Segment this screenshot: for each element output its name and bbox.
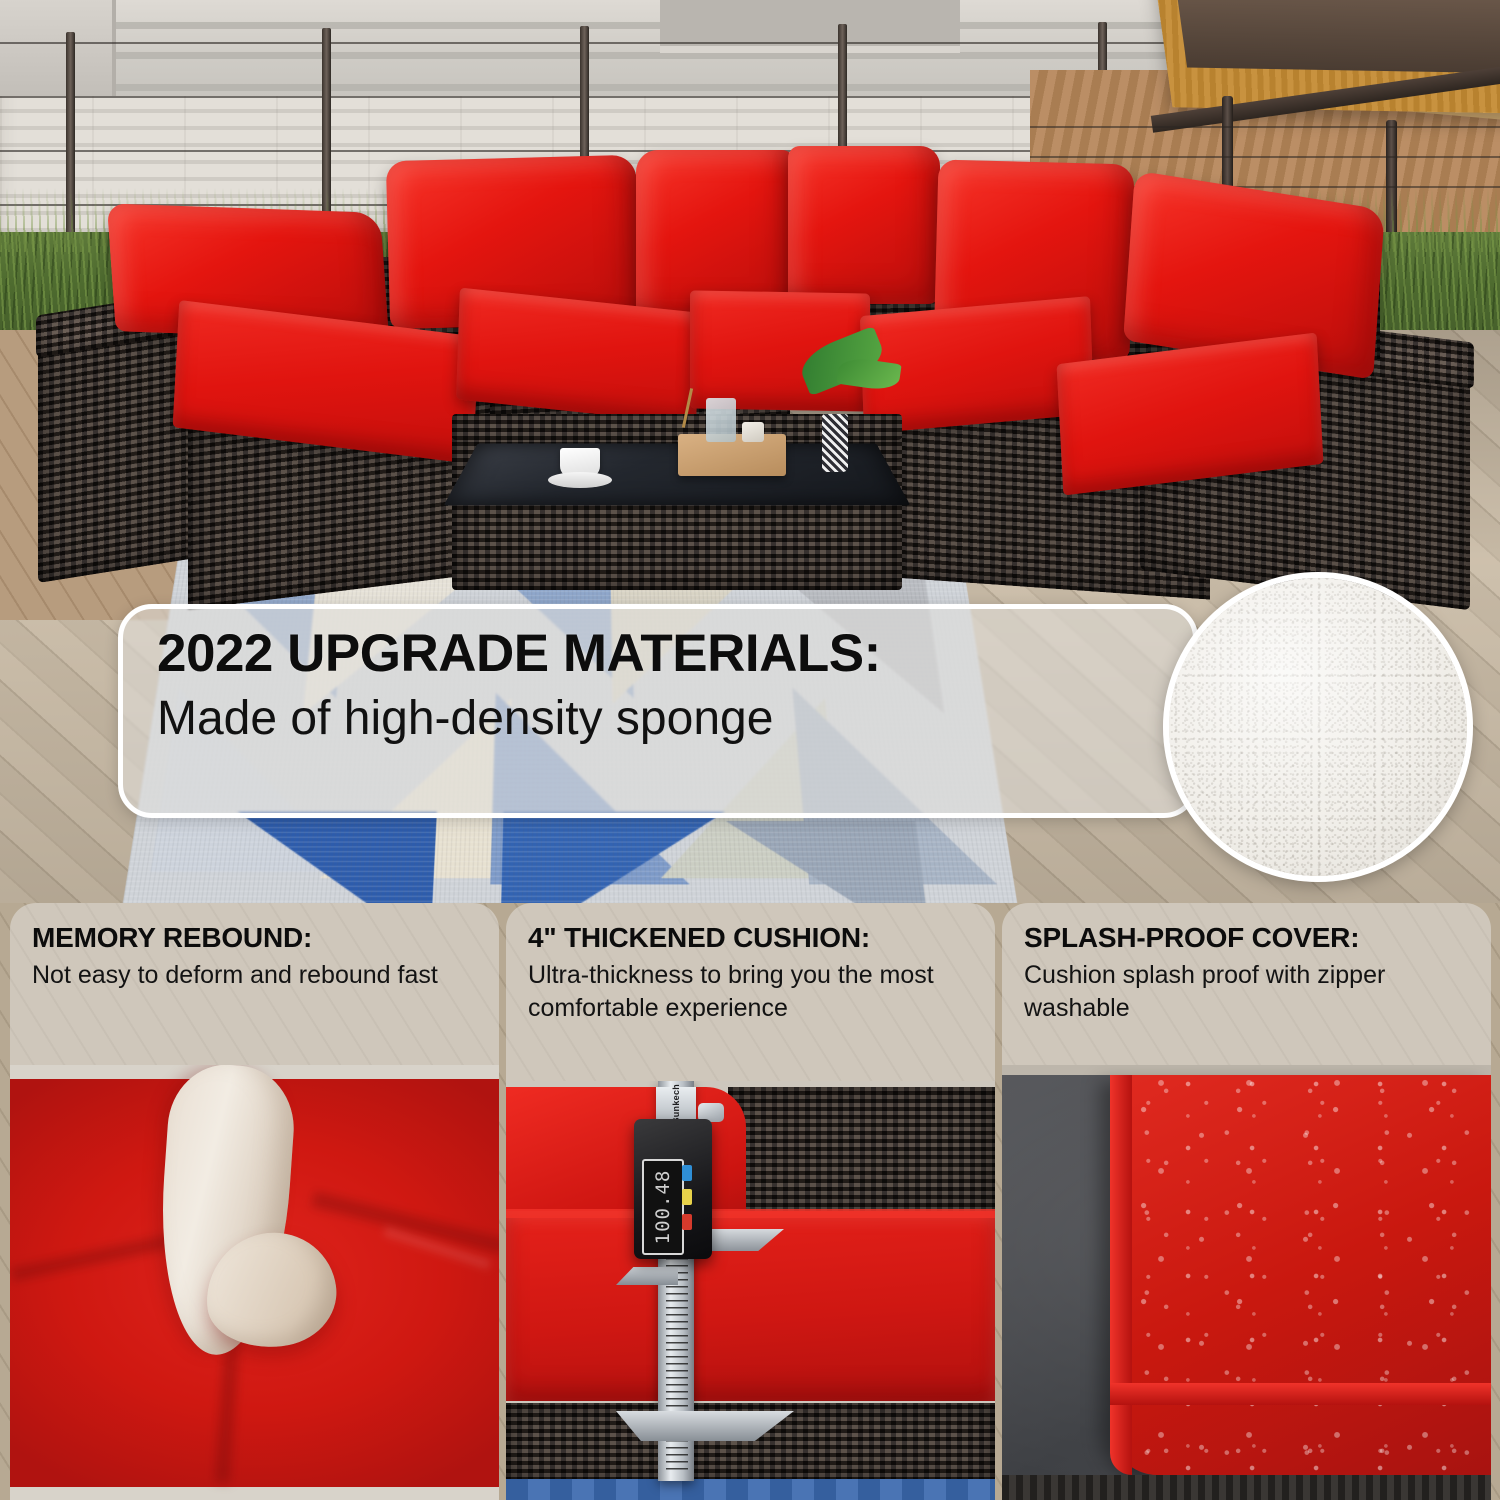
banner-subline: Made of high-density sponge	[157, 690, 1167, 749]
photo-hand-pressing-cushion	[10, 1065, 499, 1500]
cushion-piping	[506, 1209, 995, 1218]
feature-panel-memory-rebound: MEMORY REBOUND: Not easy to deform and r…	[10, 903, 499, 1500]
panel-header: SPLASH-PROOF COVER: Cushion splash proof…	[1002, 903, 1491, 1065]
photo-caliper-measuring-cushion: Bunkech 100.48	[506, 1081, 995, 1500]
hero-lifestyle-photo: 2022 UPGRADE MATERIALS: Made of high-den…	[0, 0, 1500, 905]
rug-edge	[506, 1479, 995, 1500]
cover-welt-bottom	[1110, 1383, 1491, 1405]
saucer	[548, 472, 612, 488]
banner-headline: 2022 UPGRADE MATERIALS:	[157, 623, 1167, 686]
sponge-texture-circle-icon	[1163, 572, 1473, 882]
upgrade-materials-banner: 2022 UPGRADE MATERIALS: Made of high-den…	[118, 604, 1198, 818]
panel-title: 4" THICKENED CUSHION:	[528, 922, 870, 954]
caliper-reading: 100.48	[652, 1170, 674, 1245]
panel-body: Ultra-thickness to bring you the most co…	[528, 959, 968, 1024]
wicker-backdrop	[728, 1087, 995, 1215]
panel-body: Cushion splash proof with zipper washabl…	[1024, 959, 1464, 1024]
cover-welt-left	[1110, 1075, 1132, 1475]
banner-text-block: 2022 UPGRADE MATERIALS: Made of high-den…	[157, 623, 1167, 748]
panel-title: MEMORY REBOUND:	[32, 922, 312, 954]
panel-header: 4" THICKENED CUSHION: Ultra-thickness to…	[506, 903, 995, 1081]
photo-water-beading-cover	[1002, 1065, 1491, 1500]
panel-title: SPLASH-PROOF COVER:	[1024, 922, 1359, 954]
caliper-on-button[interactable]	[682, 1189, 692, 1205]
candle-small	[742, 422, 764, 442]
caliper-brand-label: Bunkech	[656, 1087, 696, 1121]
feature-panel-splash-proof-cover: SPLASH-PROOF COVER: Cushion splash proof…	[1002, 903, 1491, 1500]
splash-proof-cushion-cover	[1110, 1075, 1491, 1475]
infographic-root: 2022 UPGRADE MATERIALS: Made of high-den…	[0, 0, 1500, 1500]
feature-panel-thickened-cushion: 4" THICKENED CUSHION: Ultra-thickness to…	[506, 903, 995, 1500]
caliper-zero-button[interactable]	[682, 1165, 692, 1181]
caliper-off-button[interactable]	[682, 1214, 692, 1230]
glass-jar	[706, 398, 736, 442]
feature-panels: MEMORY REBOUND: Not easy to deform and r…	[0, 903, 1500, 1500]
panel-body: Not easy to deform and rebound fast	[32, 959, 472, 992]
caliper-lcd-display: 100.48	[642, 1159, 684, 1255]
panel-header: MEMORY REBOUND: Not easy to deform and r…	[10, 903, 499, 1065]
dark-mat-strip	[1002, 1475, 1491, 1500]
back-cushion	[788, 146, 940, 304]
patterned-vase	[822, 414, 848, 472]
